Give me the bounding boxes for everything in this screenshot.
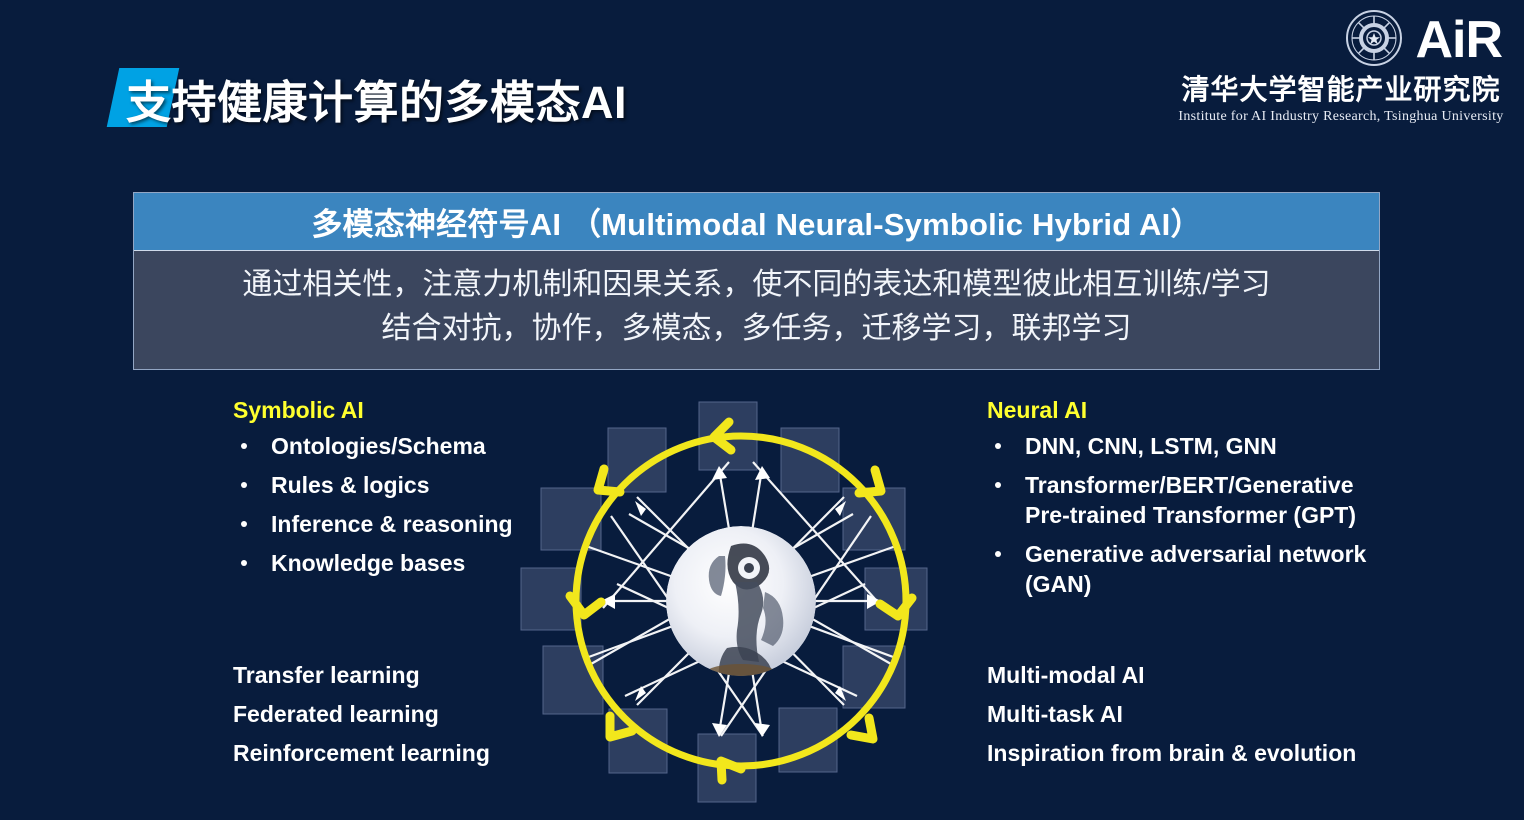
neural-ai-heading: Neural AI	[987, 396, 1387, 424]
list-item: Inspiration from brain & evolution	[987, 734, 1356, 773]
logo-chinese-name: 清华大学智能产业研究院	[1176, 74, 1506, 106]
list-item: Inference & reasoning	[233, 509, 533, 539]
panel-banner-text: 多模态神经符号AI （Multimodal Neural-Symbolic Hy…	[311, 199, 1201, 244]
symbolic-ai-column: Symbolic AI Ontologies/Schema Rules & lo…	[233, 396, 533, 587]
page-title: 支持健康计算的多模态AI	[126, 66, 627, 131]
diagram-svg	[513, 396, 968, 808]
brain-sphere-image	[666, 526, 816, 680]
list-item: Transformer/BERT/Generative Pre-trained …	[987, 470, 1387, 530]
panel-banner: 多模态神经符号AI （Multimodal Neural-Symbolic Hy…	[134, 193, 1379, 251]
multimodal-network-diagram	[513, 396, 968, 808]
list-item: Reinforcement learning	[233, 734, 490, 773]
panel-body: 通过相关性，注意力机制和因果关系，使不同的表达和模型彼此相互训练/学习 结合对抗…	[134, 251, 1379, 351]
tsinghua-seal-icon	[1345, 9, 1403, 72]
air-logo: AiR 清华大学智能产业研究院 Institute for AI Industr…	[1176, 8, 1506, 140]
list-item: Transfer learning	[233, 656, 490, 695]
list-item: Generative adversarial network (GAN)	[987, 539, 1387, 599]
symbolic-ai-heading: Symbolic AI	[233, 396, 533, 424]
slide-header: 支持健康计算的多模态AI	[0, 0, 1524, 150]
list-item: Ontologies/Schema	[233, 431, 533, 461]
neural-ai-extras: Multi-modal AI Multi-task AI Inspiration…	[987, 656, 1356, 773]
list-item: Federated learning	[233, 695, 490, 734]
neural-ai-bullet-list: DNN, CNN, LSTM, GNN Transformer/BERT/Gen…	[987, 431, 1387, 599]
node-square	[541, 488, 601, 550]
logo-top-row: AiR	[1176, 8, 1506, 72]
list-item: Rules & logics	[233, 470, 533, 500]
list-item: Knowledge bases	[233, 548, 533, 578]
panel-line: 通过相关性，注意力机制和因果关系，使不同的表达和模型彼此相互训练/学习	[134, 263, 1379, 307]
list-item: DNN, CNN, LSTM, GNN	[987, 431, 1387, 461]
panel-line: 结合对抗，协作，多模态，多任务，迁移学习，联邦学习	[134, 307, 1379, 351]
definition-panel: 多模态神经符号AI （Multimodal Neural-Symbolic Hy…	[133, 192, 1380, 370]
neural-ai-column: Neural AI DNN, CNN, LSTM, GNN Transforme…	[987, 396, 1387, 608]
symbolic-ai-bullet-list: Ontologies/Schema Rules & logics Inferen…	[233, 431, 533, 578]
air-wordmark: AiR	[1415, 14, 1502, 66]
symbolic-ai-extras: Transfer learning Federated learning Rei…	[233, 656, 490, 773]
list-item: Multi-task AI	[987, 695, 1356, 734]
logo-english-name: Institute for AI Industry Research, Tsin…	[1176, 108, 1506, 126]
list-item: Multi-modal AI	[987, 656, 1356, 695]
